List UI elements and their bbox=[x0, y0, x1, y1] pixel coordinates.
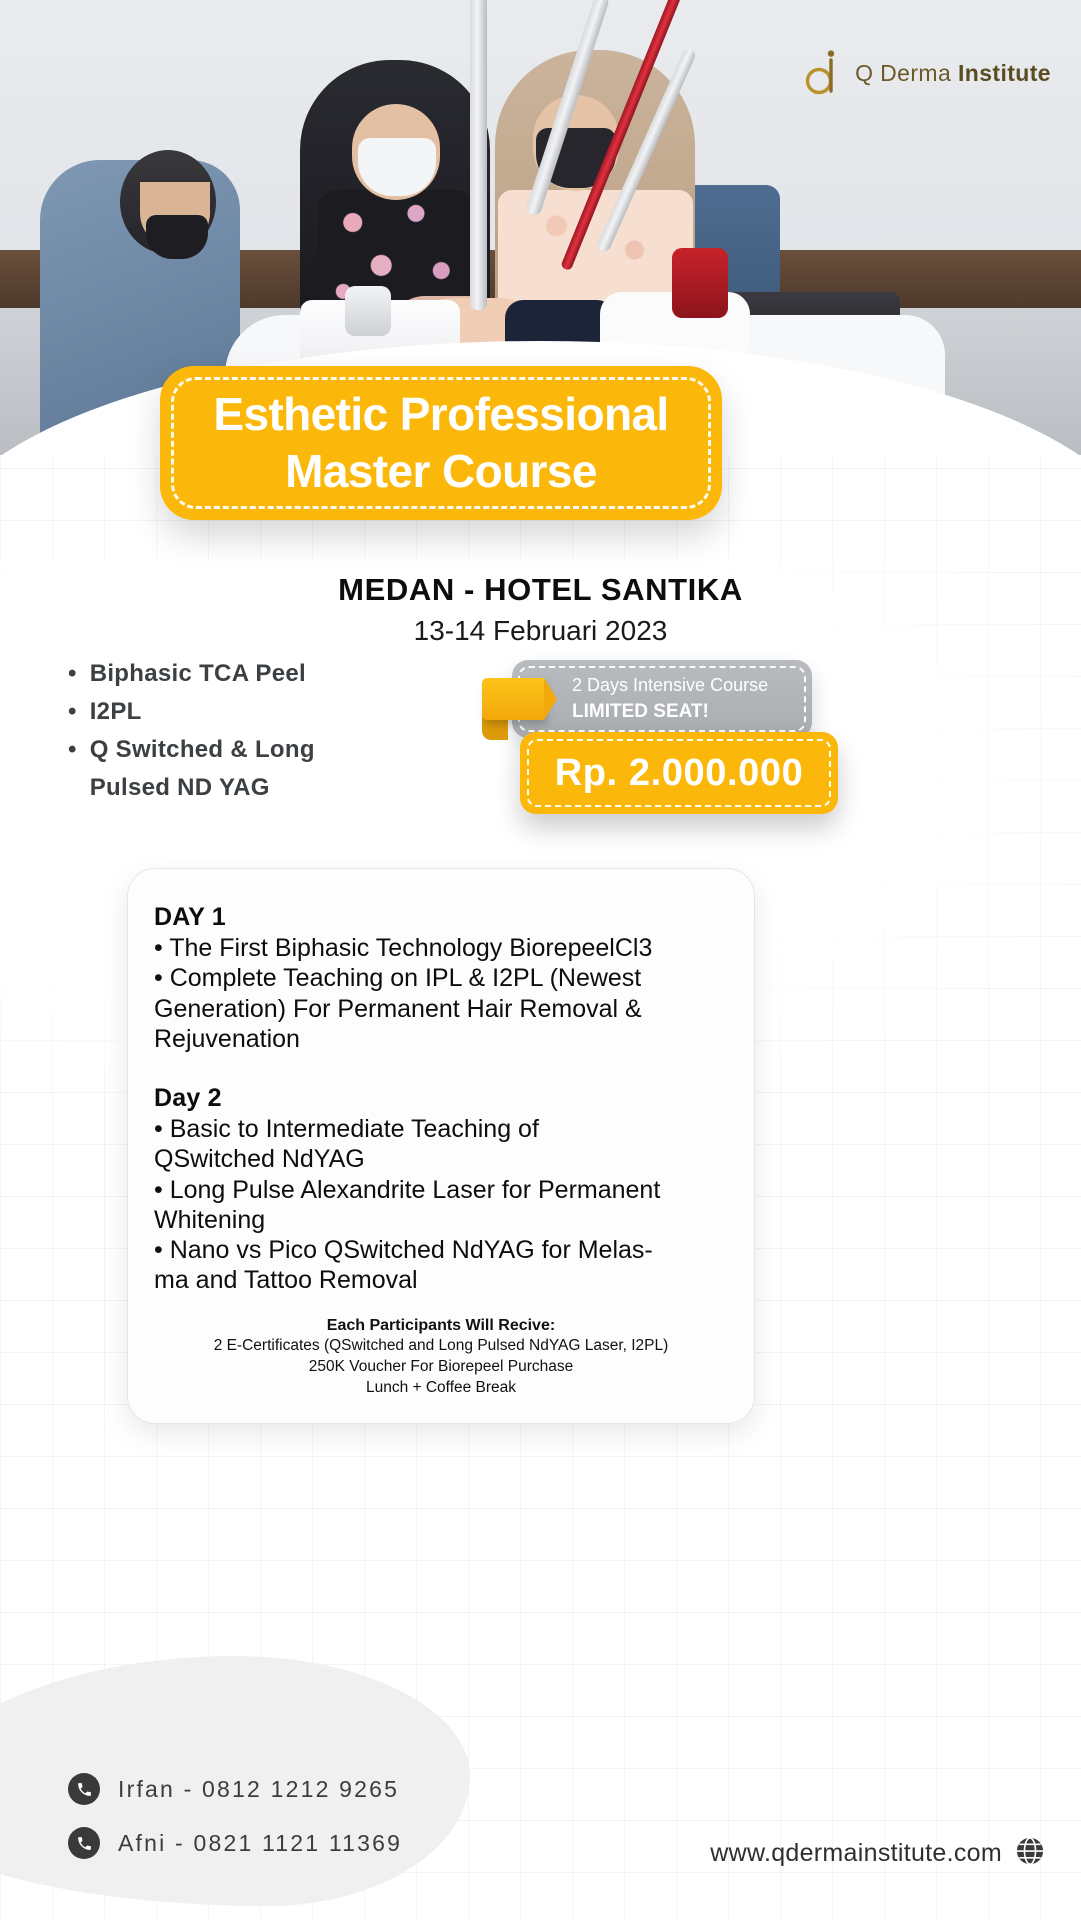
topic-label: I2PL bbox=[90, 693, 142, 731]
day1-body: • The First Biphasic Technology Biorepee… bbox=[154, 933, 728, 1054]
contact-row-afni[interactable]: Afni - 0821 1121 11369 bbox=[68, 1827, 402, 1859]
website-url: www.qdermainstitute.com bbox=[710, 1839, 1002, 1868]
topic-label: Biphasic TCA Peel bbox=[90, 655, 306, 693]
website-link[interactable]: www.qdermainstitute.com bbox=[710, 1836, 1045, 1871]
list-item: • Biphasic TCA Peel bbox=[68, 655, 498, 693]
globe-icon bbox=[1015, 1836, 1045, 1871]
contact-row-irfan[interactable]: Irfan - 0812 1212 9265 bbox=[68, 1773, 402, 1805]
participant-benefits: Each Participants Will Recive: 2 E-Certi… bbox=[154, 1315, 728, 1399]
photo-laser-handpiece bbox=[672, 248, 728, 318]
day1-title: DAY 1 bbox=[154, 903, 728, 932]
brand-name-bold: Institute bbox=[958, 60, 1051, 86]
brand-name-light: Q Derma bbox=[855, 60, 958, 86]
ribbon-tag-icon bbox=[482, 678, 544, 720]
photo-laser-arm-1 bbox=[470, 0, 487, 310]
participant-benefit-item: 250K Voucher For Biorepeel Purchase bbox=[154, 1357, 728, 1378]
event-date: 13-14 Februari 2023 bbox=[0, 615, 1081, 647]
brand-logo: Q Derma Institute bbox=[804, 50, 1051, 96]
photo-person-participant-1-mask bbox=[358, 138, 436, 196]
contact-label: Afni - 0821 1121 11369 bbox=[118, 1830, 402, 1857]
list-item: • Q Switched & Long Pulsed ND YAG bbox=[68, 731, 498, 807]
contact-label: Irfan - 0812 1212 9265 bbox=[118, 1776, 399, 1803]
bullet-dot-icon: • bbox=[68, 655, 77, 693]
event-location-block: MEDAN - HOTEL SANTIKA 13-14 Februari 202… bbox=[0, 572, 1081, 647]
event-venue: MEDAN - HOTEL SANTIKA bbox=[0, 572, 1081, 608]
phone-icon bbox=[68, 1827, 100, 1859]
badge-line-2: LIMITED SEAT! bbox=[572, 698, 768, 726]
brand-logo-text: Q Derma Institute bbox=[855, 60, 1051, 87]
list-item: • I2PL bbox=[68, 693, 498, 731]
bullet-dot-icon: • bbox=[68, 693, 77, 731]
badge-line-1: 2 Days Intensive Course bbox=[572, 672, 768, 698]
photo-laser-machine-knob bbox=[345, 286, 391, 336]
day2-title: Day 2 bbox=[154, 1084, 728, 1113]
schedule-card: DAY 1 • The First Biphasic Technology Bi… bbox=[127, 868, 755, 1424]
topic-label: Q Switched & Long Pulsed ND YAG bbox=[90, 731, 315, 807]
offer-block: 2 Days Intensive Course LIMITED SEAT! Rp… bbox=[498, 660, 848, 830]
badge-text: 2 Days Intensive Course LIMITED SEAT! bbox=[572, 672, 768, 726]
photo-person-doctor-mask bbox=[146, 215, 208, 259]
contact-list: Irfan - 0812 1212 9265 Afni - 0821 1121 … bbox=[68, 1773, 402, 1881]
course-title: Esthetic Professional Master Course bbox=[160, 386, 722, 500]
topic-list: • Biphasic TCA Peel • I2PL • Q Switched … bbox=[68, 655, 498, 807]
day2-body: • Basic to Intermediate Teaching of QSwi… bbox=[154, 1114, 728, 1296]
participant-benefits-heading: Each Participants Will Recive: bbox=[154, 1315, 728, 1337]
phone-icon bbox=[68, 1773, 100, 1805]
status-badge: 2 Days Intensive Course LIMITED SEAT! bbox=[512, 660, 812, 738]
participant-benefit-item: Lunch + Coffee Break bbox=[154, 1378, 728, 1399]
qd-monogram-icon bbox=[804, 50, 846, 96]
price-box: Rp. 2.000.000 bbox=[520, 732, 838, 814]
course-title-banner: Esthetic Professional Master Course bbox=[160, 366, 722, 520]
participant-benefit-item: 2 E-Certificates (QSwitched and Long Pul… bbox=[154, 1336, 728, 1357]
bullet-dot-icon: • bbox=[68, 731, 77, 807]
price-value: Rp. 2.000.000 bbox=[555, 752, 804, 795]
